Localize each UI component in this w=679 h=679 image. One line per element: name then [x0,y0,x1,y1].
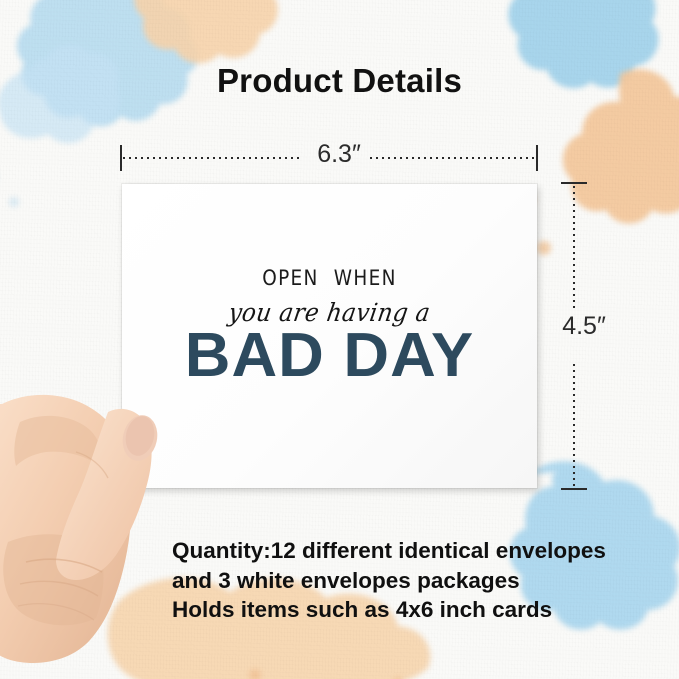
width-dimension-label: 6.3″ [306,140,372,169]
greeting-card-text: OPEN WHEN you are having a BAD DAY [122,266,537,388]
width-dimension-cap-right [536,145,538,171]
card-line-open-when: OPEN WHEN [147,266,512,290]
width-dimension-dash-right [370,157,535,159]
height-dimension-cap-bottom [561,488,587,490]
page-title: Product Details [0,62,679,100]
height-dimension-label: 4.5″ [548,312,620,341]
height-dimension-dash-top [573,186,575,308]
product-description: Quantity:12 different identical envelope… [172,536,652,625]
height-dimension-dash-bottom [573,364,575,486]
height-dimension-cap-top [561,182,587,184]
height-dimension-line: 4.5″ [556,182,616,490]
card-line-bad-day: BAD DAY [118,323,541,388]
description-line-2: and 3 white envelopes packages [172,566,652,596]
width-dimension-line: 6.3″ [120,145,538,173]
product-details-image: Product Details 6.3″ 4.5″ OPEN WHEN you … [0,0,679,679]
width-dimension-cap-left [120,145,122,171]
description-line-3: Holds items such as 4x6 inch cards [172,595,652,625]
description-line-1: Quantity:12 different identical envelope… [172,536,652,566]
width-dimension-dash-left [123,157,301,159]
